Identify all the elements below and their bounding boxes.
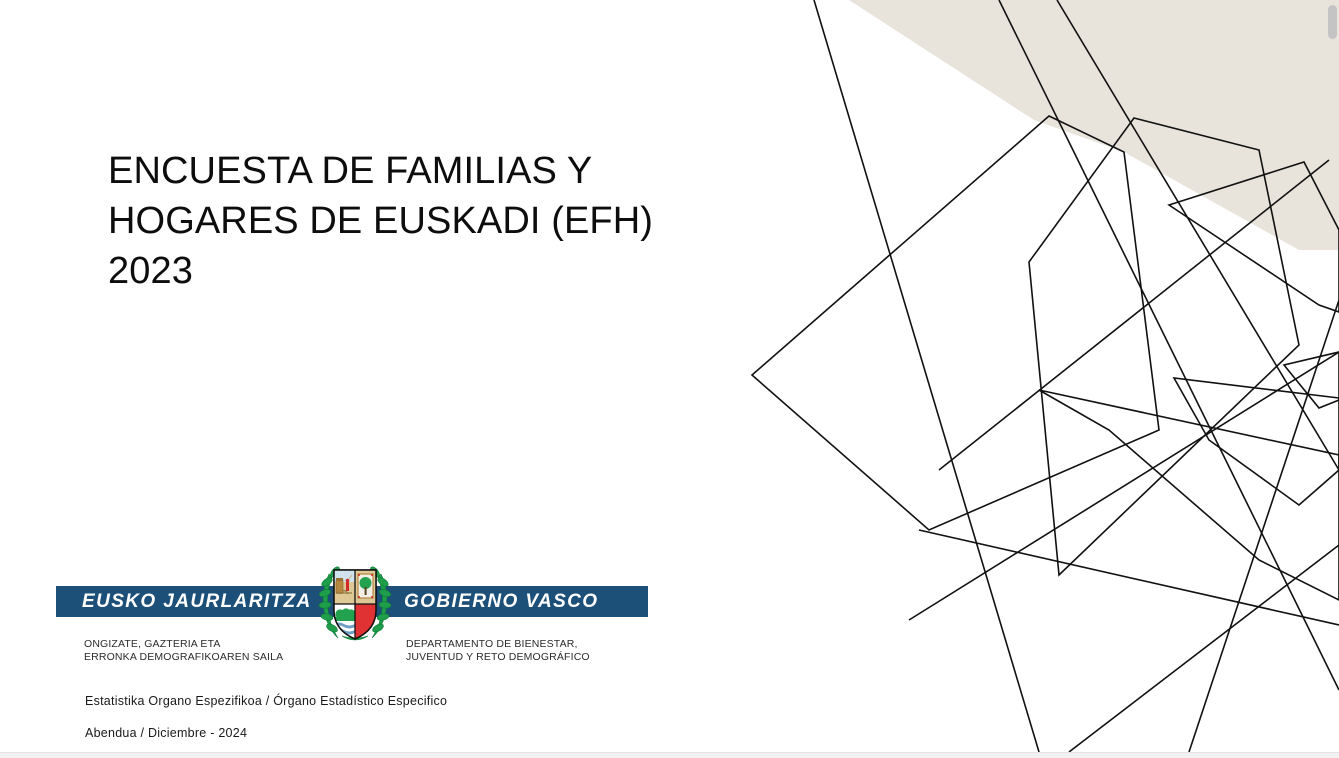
scrollbar-thumb[interactable] xyxy=(1328,5,1337,39)
logo-text-basque: EUSKO JAURLARITZA xyxy=(82,586,312,617)
page-title: ENCUESTA DE FAMILIAS Y HOGARES DE EUSKAD… xyxy=(108,146,728,296)
accent-wedge-shape xyxy=(849,0,1339,250)
footer-organization: Estatistika Organo Espezifikoa / Órgano … xyxy=(85,694,447,708)
footer-block: Estatistika Organo Espezifikoa / Órgano … xyxy=(85,694,447,740)
footer-date: Abendua / Diciembre - 2024 xyxy=(85,726,447,740)
vertical-scrollbar[interactable] xyxy=(1325,0,1339,758)
geometric-line-artwork xyxy=(739,0,1339,752)
coat-of-arms-icon xyxy=(318,560,392,644)
page-bottom-edge xyxy=(0,752,1339,758)
department-name-spanish: DEPARTAMENTO DE BIENESTAR, JUVENTUD Y RE… xyxy=(406,638,590,664)
title-block: ENCUESTA DE FAMILIAS Y HOGARES DE EUSKAD… xyxy=(108,146,728,296)
department-name-basque: ONGIZATE, GAZTERIA ETA ERRONKA DEMOGRAFI… xyxy=(84,638,283,664)
document-page: ENCUESTA DE FAMILIAS Y HOGARES DE EUSKAD… xyxy=(0,0,1339,752)
document-viewer: ENCUESTA DE FAMILIAS Y HOGARES DE EUSKAD… xyxy=(0,0,1339,758)
logo-text-spanish: GOBIERNO VASCO xyxy=(404,586,599,617)
